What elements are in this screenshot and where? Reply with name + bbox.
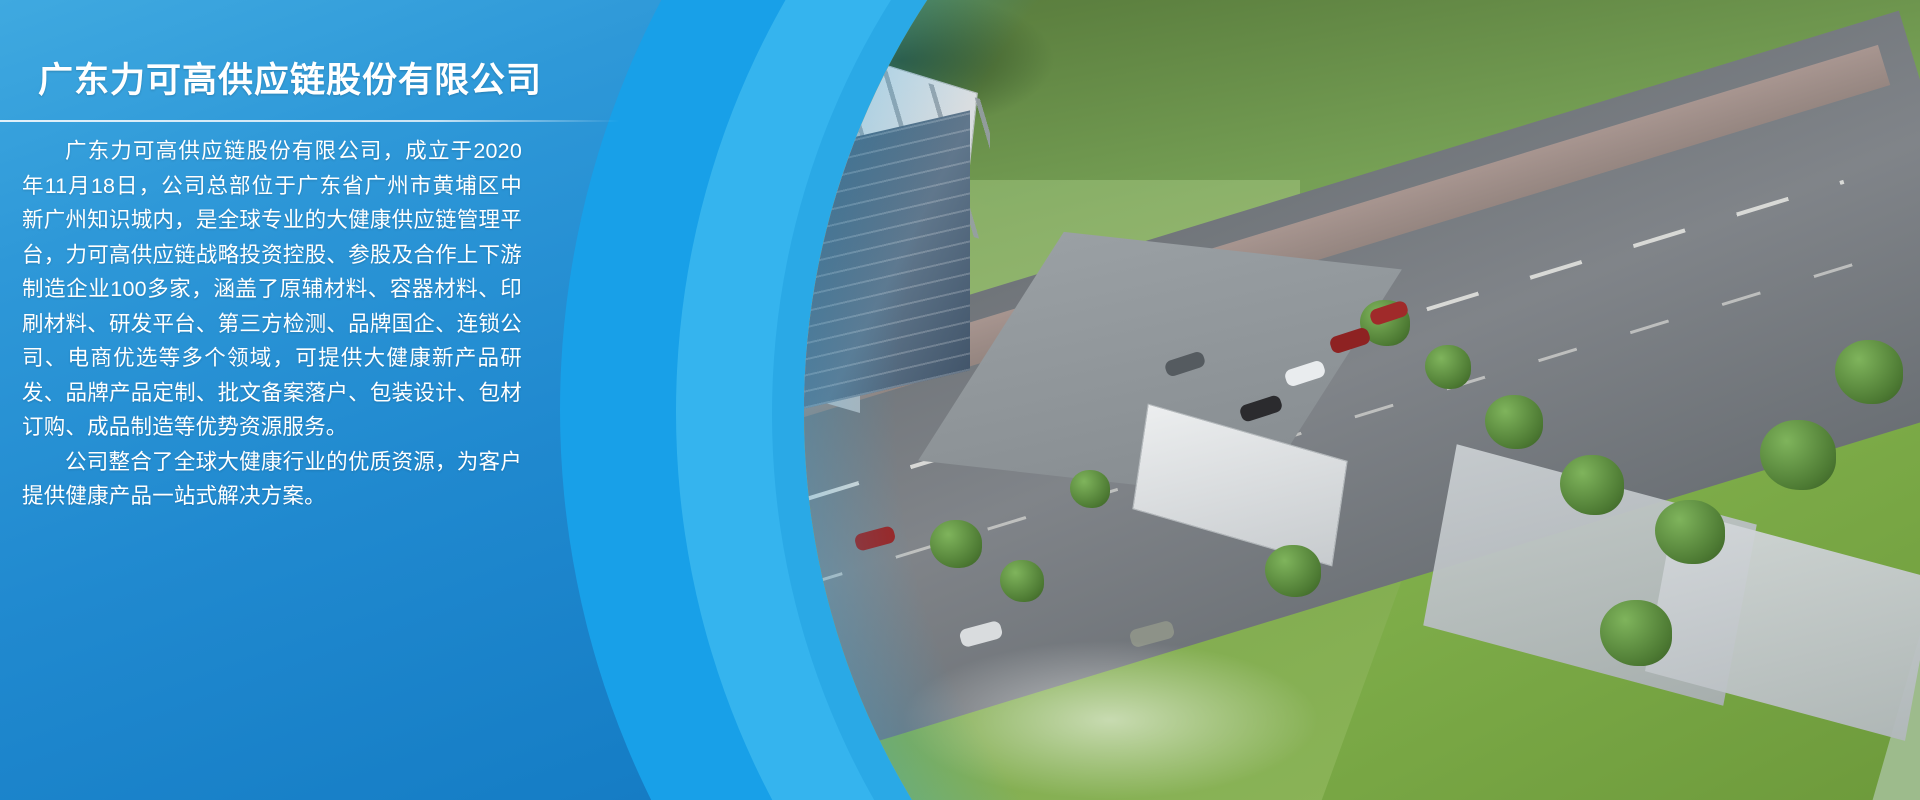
page-title: 广东力可高供应链股份有限公司 [38,52,542,103]
paragraph-2: 公司整合了全球大健康行业的优质资源，为客户提供健康产品一站式解决方案。 [22,445,522,514]
text-panel: 广东力可高供应链股份有限公司 广东力可高供应链股份有限公司，成立于2020年11… [0,0,640,800]
company-description: 广东力可高供应链股份有限公司，成立于2020年11月18日，公司总部位于广东省广… [22,134,522,514]
campus-photo [804,0,1920,800]
title-divider [0,120,620,122]
company-profile-banner: 广东力可高供应链股份有限公司 广东力可高供应链股份有限公司，成立于2020年11… [0,0,1920,800]
paragraph-1: 广东力可高供应链股份有限公司，成立于2020年11月18日，公司总部位于广东省广… [22,134,522,445]
